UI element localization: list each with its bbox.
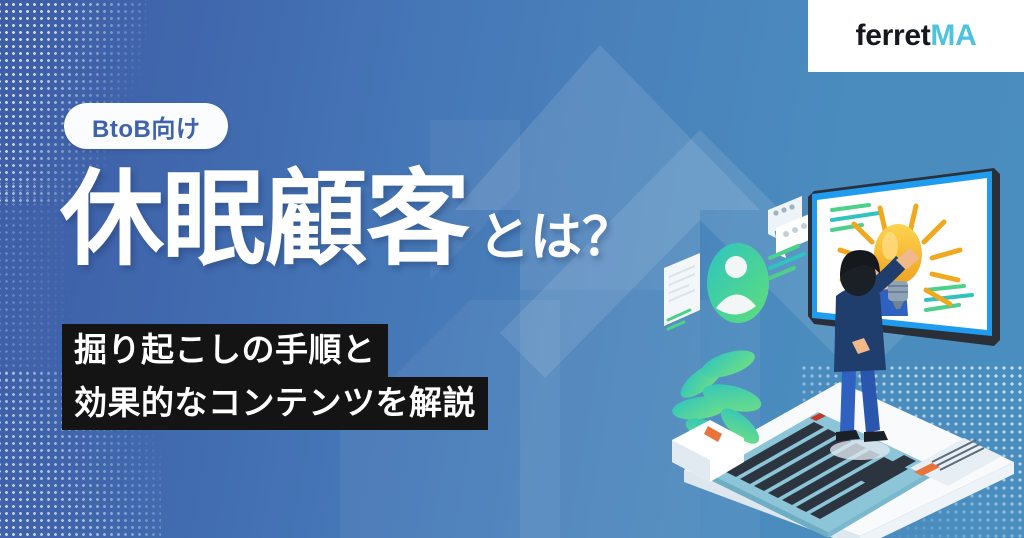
audience-badge: BtoB向け	[64, 103, 228, 149]
page-title-suffix: とは？	[478, 212, 634, 272]
hero-illustration	[664, 150, 1024, 538]
document-card-icon	[664, 253, 700, 329]
brand-logo-plate: ferretMA	[808, 0, 1024, 72]
accent-lines	[770, 246, 804, 278]
banner-canvas: ferretMA BtoB向け 休眠顧客 とは？ 掘り起こしの手順と 効果的なコ…	[0, 0, 1024, 538]
user-avatar-icon	[707, 243, 769, 323]
subtitle-group: 掘り起こしの手順と 効果的なコンテンツを解説	[62, 324, 488, 430]
subtitle-line-wrap: 効果的なコンテンツを解説	[62, 377, 488, 430]
brand-logo-accent: MA	[930, 19, 976, 52]
subtitle-line-wrap: 掘り起こしの手順と	[62, 324, 488, 377]
page-title: 休眠顧客 とは？	[60, 168, 634, 272]
brand-logo: ferretMA	[856, 21, 977, 51]
page-title-main: 休眠顧客	[60, 168, 468, 272]
subtitle-line-1: 掘り起こしの手順と	[62, 324, 388, 377]
subtitle-line-2: 効果的なコンテンツを解説	[62, 377, 488, 430]
brand-logo-primary: ferret	[856, 19, 931, 52]
audience-badge-label: BtoB向け	[92, 109, 200, 144]
